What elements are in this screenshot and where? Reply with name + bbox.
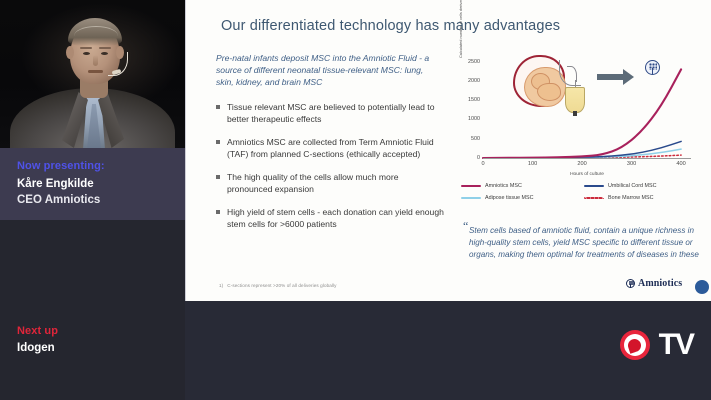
chart-series-canvas: [483, 54, 691, 158]
speaker-nose: [93, 55, 98, 66]
broadcast-sidebar: Now presenting: Kåre Engkilde CEO Amniot…: [0, 0, 185, 400]
speaker-eye-left: [83, 52, 90, 55]
speaker-video-feed[interactable]: [0, 0, 185, 148]
speaker-name: Kåre Engkilde: [17, 178, 94, 190]
speaker-role: CEO Amniotics: [17, 194, 100, 206]
legend-swatch-bone-marrow: [584, 197, 604, 199]
speaker-mouth: [88, 70, 103, 73]
bullet-text: High yield of stem cells - each donation…: [227, 206, 444, 230]
legend-label: Bone Marrow MSC: [608, 195, 654, 201]
slide-quote: “ Stem cells based of amniotic fluid, co…: [463, 225, 701, 261]
chart-x-axis-line: [483, 158, 691, 159]
chart-y-tick: 1000: [468, 116, 480, 122]
now-presenting-label: Now presenting:: [17, 160, 105, 172]
growth-curve-chart: Calculated number of cells derived from …: [461, 50, 701, 182]
bullet-square-icon: [216, 140, 220, 144]
next-up-panel: Next up Idogen: [0, 220, 185, 400]
bullet-square-icon: [216, 210, 220, 214]
list-item: High yield of stem cells - each donation…: [216, 206, 444, 230]
speaker-eye-right: [101, 52, 108, 55]
bullet-text: Tissue relevant MSC are believed to pote…: [227, 101, 444, 125]
list-item: Tissue relevant MSC are believed to pote…: [216, 101, 444, 125]
bullet-text: The high quality of the cells allow much…: [227, 171, 444, 195]
chart-plot-area: 050010001500200025000100200300400: [483, 54, 691, 158]
next-up-company: Idogen: [17, 342, 55, 354]
speaker-brow-left: [80, 47, 92, 49]
slide-corner-badge: [695, 280, 709, 294]
bullet-square-icon: [216, 175, 220, 179]
chart-y-tick: 500: [471, 136, 480, 142]
legend-label: Adipose tissue MSC: [485, 195, 534, 201]
amniotics-brand-logo: Amniotics: [626, 278, 682, 289]
legend-item: Umbilical Cord MSC: [584, 183, 701, 189]
list-item: Amniotics MSC are collected from Term Am…: [216, 136, 444, 160]
legend-swatch-adipose: [461, 197, 481, 200]
chart-x-tick: 0: [481, 161, 484, 167]
chart-series-line: [483, 69, 681, 158]
legend-swatch-amniotics: [461, 185, 481, 188]
bullet-square-icon: [216, 105, 220, 109]
chart-x-axis-label: Hours of culture: [483, 172, 691, 177]
chart-x-tick: 400: [676, 161, 685, 167]
legend-item: Bone Marrow MSC: [584, 195, 701, 201]
chart-x-tick: 100: [528, 161, 537, 167]
red-eye-circle-icon: [620, 330, 650, 360]
channel-logo[interactable]: TV: [620, 328, 693, 362]
broadcast-bottom-bar: TV: [185, 301, 711, 400]
chart-y-tick: 2000: [468, 78, 480, 84]
quote-text: Stem cells based of amniotic fluid, cont…: [463, 225, 701, 261]
now-presenting-panel: Now presenting: Kåre Engkilde CEO Amniot…: [0, 148, 185, 220]
chart-legend: Amniotics MSC Umbilical Cord MSC Adipose…: [461, 183, 701, 201]
next-up-label: Next up: [17, 325, 58, 337]
speaker-ear-left: [66, 46, 74, 59]
slide-intro-paragraph: Pre-natal infants deposit MSC into the A…: [216, 52, 438, 89]
channel-wordmark: TV: [659, 328, 693, 362]
chart-y-tick: 2500: [468, 59, 480, 65]
speaker-brow-right: [99, 47, 111, 49]
chart-y-tick: 1500: [468, 97, 480, 103]
legend-label: Umbilical Cord MSC: [608, 183, 657, 189]
amniotics-tree-circle-icon: [626, 279, 635, 288]
amniotics-wordmark: Amniotics: [638, 278, 682, 289]
bullet-text: Amniotics MSC are collected from Term Am…: [227, 136, 444, 160]
chart-y-axis-label: Calculated number of cells derived from …: [459, 0, 464, 58]
chart-y-tick: 0: [477, 155, 480, 161]
quote-mark-icon: “: [463, 219, 468, 234]
slide-title: Our differentiated technology has many a…: [221, 18, 560, 34]
chart-x-tick: 300: [627, 161, 636, 167]
headset-band-icon: [74, 26, 118, 46]
chart-x-tick: 200: [577, 161, 586, 167]
list-item: The high quality of the cells allow much…: [216, 171, 444, 195]
slide-footnote: 1)C-sections represent >20% of all deliv…: [219, 283, 337, 288]
slide-text-column: Pre-natal infants deposit MSC into the A…: [216, 52, 451, 241]
footnote-text: C-sections represent >20% of all deliver…: [227, 283, 336, 288]
legend-item: Adipose tissue MSC: [461, 195, 578, 201]
legend-swatch-umbilical: [584, 185, 604, 188]
footnote-number: 1): [219, 283, 223, 288]
legend-label: Amniotics MSC: [485, 183, 522, 189]
legend-item: Amniotics MSC: [461, 183, 578, 189]
presentation-slide[interactable]: Our differentiated technology has many a…: [185, 0, 711, 301]
